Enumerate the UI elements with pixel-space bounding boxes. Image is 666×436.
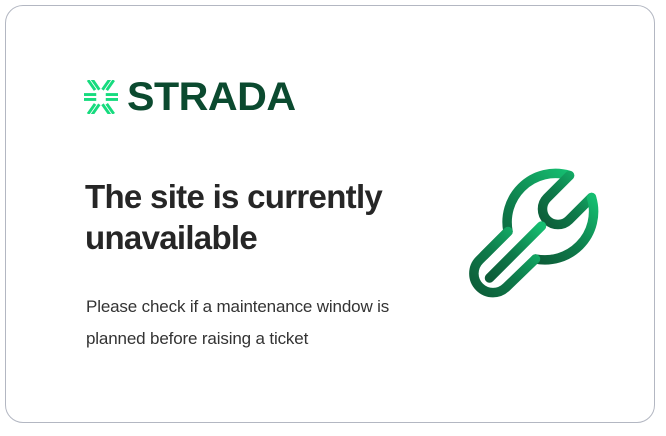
status-description: Please check if a maintenance window is … <box>86 291 396 355</box>
wrench-illustration <box>461 158 621 318</box>
brand-wordmark: STRADA <box>127 77 296 117</box>
status-card: STRADA The site is currently unavailable… <box>5 5 655 423</box>
strada-asterisk-icon <box>84 80 118 114</box>
page-title: The site is currently unavailable <box>85 176 415 258</box>
page-root: STRADA The site is currently unavailable… <box>0 0 666 436</box>
brand-lockup: STRADA <box>84 76 291 118</box>
